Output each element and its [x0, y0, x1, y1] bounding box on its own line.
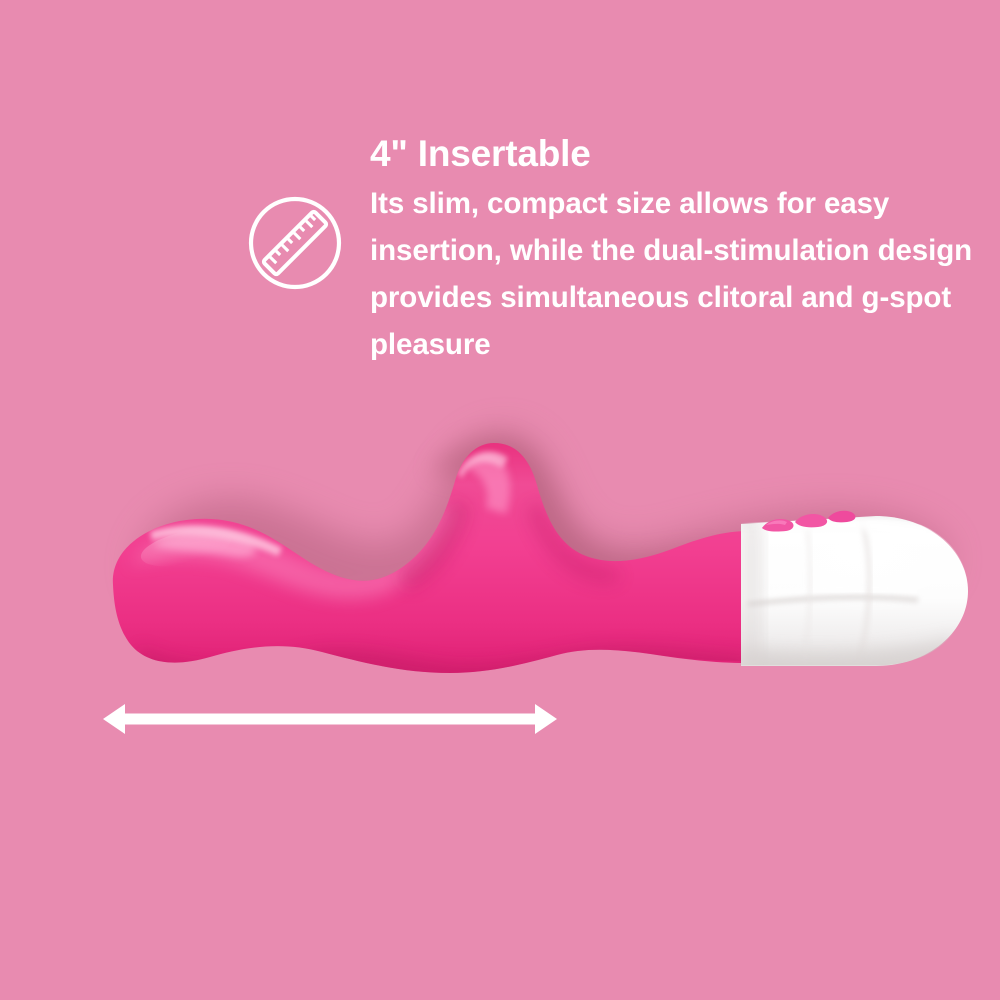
- product-body: [113, 443, 760, 690]
- feature-description: Its slim, compact size allows for easy i…: [370, 180, 980, 368]
- icon-circle-outline: [251, 199, 339, 287]
- feature-text-block: 4" Insertable Its slim, compact size all…: [370, 131, 980, 368]
- arrow-head-left: [103, 704, 125, 734]
- product-shadow: [139, 432, 948, 609]
- product-infographic: 4" Insertable Its slim, compact size all…: [0, 0, 1000, 1000]
- insertable-length-arrow: [95, 698, 565, 740]
- ruler-icon: [247, 195, 343, 291]
- feature-title: 4" Insertable: [370, 131, 980, 177]
- ruler-glyph: [263, 211, 327, 275]
- arrow-shape: [103, 704, 557, 734]
- product-handle: [741, 516, 972, 690]
- arrow-head-right: [535, 704, 557, 734]
- control-buttons[interactable]: [762, 511, 855, 532]
